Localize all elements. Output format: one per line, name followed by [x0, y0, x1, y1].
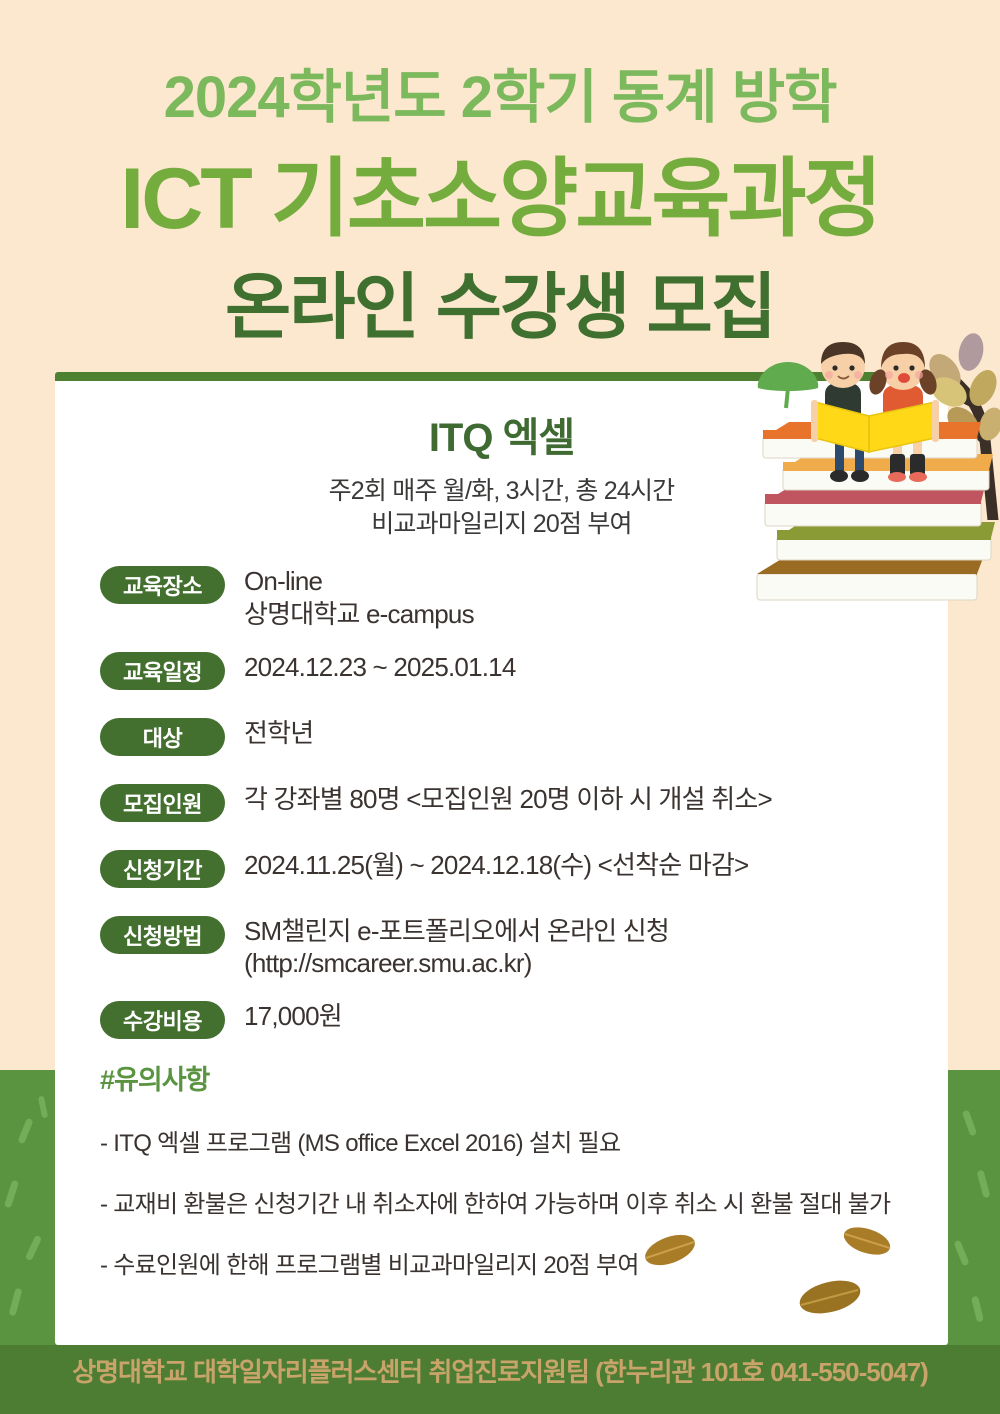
flying-leaf-icon — [640, 1230, 700, 1270]
flying-leaf-icon — [795, 1275, 865, 1320]
label-fee: 수강비용 — [100, 1001, 225, 1039]
label-apply-method: 신청방법 — [100, 916, 225, 954]
note-item: - 교재비 환불은 신청기간 내 취소자에 한하여 가능하며 이후 취소 시 환… — [100, 1184, 948, 1219]
info-row-target: 대상 전학년 — [55, 716, 948, 756]
value-apply-period: 2024.11.25(월) ~ 2024.12.18(수) <선착순 마감> — [244, 850, 748, 880]
value-location-line-2: 상명대학교 e-campus — [244, 598, 474, 631]
info-row-apply-method: 신청방법 SM챌린지 e-포트폴리오에서 온라인 신청 (http://smca… — [55, 914, 948, 981]
value-fee: 17,000원 — [244, 1001, 342, 1031]
value-target: 전학년 — [244, 718, 313, 748]
value-location-line-1: On-line — [244, 566, 322, 596]
info-row-fee: 수강비용 17,000원 — [55, 999, 948, 1039]
info-row-schedule: 교육일정 2024.12.23 ~ 2025.01.14 — [55, 650, 948, 690]
notes-section: #유의사항 - ITQ 엑셀 프로그램 (MS office Excel 201… — [55, 1058, 948, 1280]
label-capacity: 모집인원 — [100, 784, 225, 822]
value-apply-method-line-1: SM챌린지 e-포트폴리오에서 온라인 신청 — [244, 916, 669, 946]
label-location: 교육장소 — [100, 566, 225, 604]
label-schedule: 교육일정 — [100, 652, 225, 690]
poster-header: 2024학년도 2학기 동계 방학 ICT 기초소양교육과정 온라인 수강생 모… — [0, 0, 1000, 372]
label-apply-period: 신청기간 — [100, 850, 225, 888]
value-capacity: 각 강좌별 80명 <모집인원 20명 이하 시 개설 취소> — [244, 784, 772, 814]
course-subtitle-line-1: 주2회 매주 월/화, 3시간, 총 24시간 — [329, 477, 675, 505]
note-item: - ITQ 엑셀 프로그램 (MS office Excel 2016) 설치 … — [100, 1123, 948, 1158]
info-row-apply-period: 신청기간 2024.11.25(월) ~ 2024.12.18(수) <선착순 … — [55, 848, 948, 888]
notes-title: #유의사항 — [100, 1058, 948, 1097]
value-apply-method-url[interactable]: (http://smcareer.smu.ac.kr) — [244, 947, 669, 980]
header-line-1: 2024학년도 2학기 동계 방학 — [0, 50, 1000, 134]
label-target: 대상 — [100, 718, 225, 756]
flying-leaf-icon — [840, 1222, 895, 1260]
value-schedule: 2024.12.23 ~ 2025.01.14 — [244, 652, 516, 682]
footer-contact: 상명대학교 대학일자리플러스센터 취업진로지원팀 (한누리관 101호 041-… — [0, 1352, 1000, 1389]
info-rows: 교육장소 On-line 상명대학교 e-campus 교육일정 2024.12… — [55, 564, 948, 1039]
header-line-2: ICT 기초소양교육과정 — [0, 128, 1000, 253]
info-row-capacity: 모집인원 각 강좌별 80명 <모집인원 20명 이하 시 개설 취소> — [55, 782, 948, 822]
kids-reading-illustration — [735, 330, 1000, 620]
course-subtitle-line-2: 비교과마일리지 20점 부여 — [371, 510, 632, 538]
